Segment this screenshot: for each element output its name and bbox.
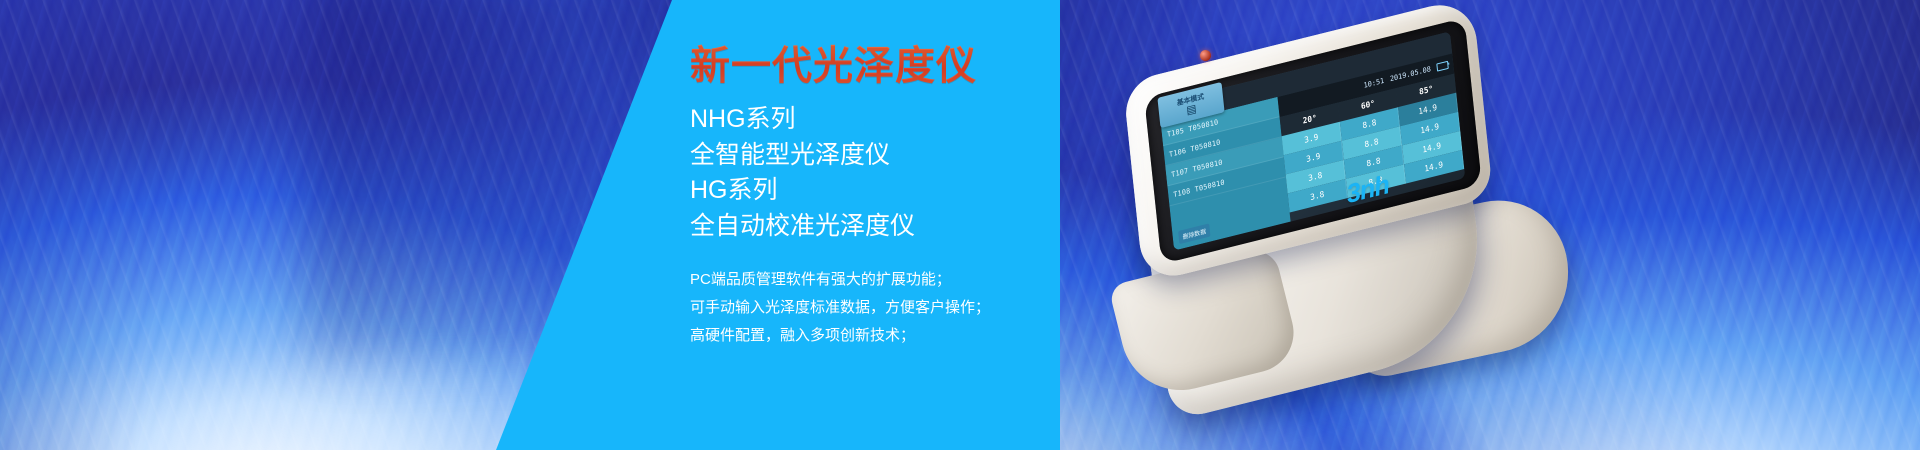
battery-icon bbox=[1436, 61, 1448, 72]
gloss-meter-device: T109 T105 T050810 T106 T050810 T107 T050… bbox=[1040, 14, 1600, 434]
gloss-icon: ▤ bbox=[1186, 103, 1197, 117]
product-banner: 新一代光泽度仪 NHG系列 全智能型光泽度仪 HG系列 全自动校准光泽度仪 PC… bbox=[0, 0, 1920, 450]
clock: 10:51 bbox=[1363, 77, 1384, 90]
